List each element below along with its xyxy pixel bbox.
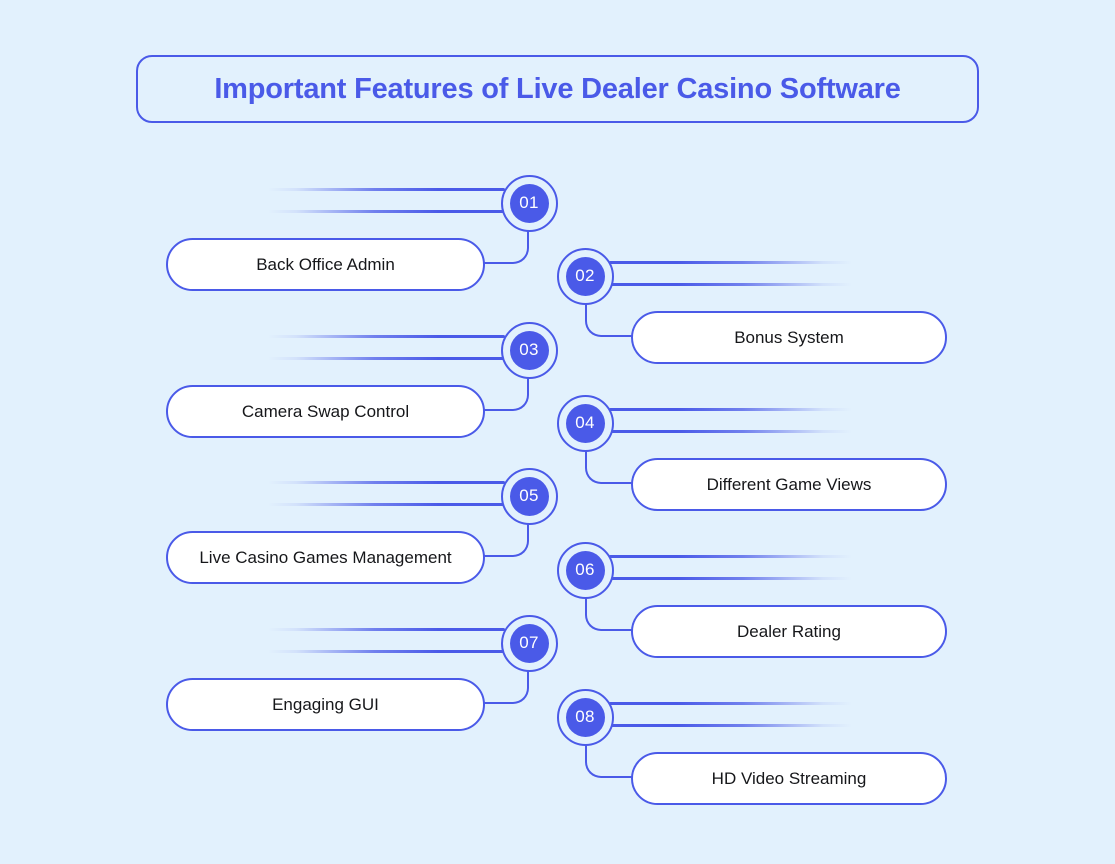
accent-line-lower <box>609 430 852 433</box>
accent-line-lower <box>609 724 852 727</box>
accent-line-lower <box>609 283 852 286</box>
step-number: 08 <box>566 698 605 737</box>
accent-line-upper <box>268 628 505 631</box>
accent-line-upper <box>609 261 852 264</box>
feature-label: Bonus System <box>734 328 844 348</box>
step-number: 07 <box>510 624 549 663</box>
connector-lines <box>268 628 505 658</box>
elbow-connector <box>585 741 635 778</box>
step-badge-08[interactable]: 08 <box>557 689 614 746</box>
step-badge-01[interactable]: 01 <box>501 175 558 232</box>
feature-pill-03[interactable]: Camera Swap Control <box>166 385 485 438</box>
step-badge-05[interactable]: 05 <box>501 468 558 525</box>
accent-line-lower <box>609 577 852 580</box>
accent-line-lower <box>268 503 505 506</box>
connector-lines <box>609 408 852 438</box>
feature-pill-05[interactable]: Live Casino Games Management <box>166 531 485 584</box>
feature-label: Engaging GUI <box>272 695 379 715</box>
accent-line-upper <box>609 702 852 705</box>
feature-label: Camera Swap Control <box>242 402 409 422</box>
page-title: Important Features of Live Dealer Casino… <box>214 73 900 106</box>
feature-pill-02[interactable]: Bonus System <box>631 311 947 364</box>
accent-line-lower <box>268 650 505 653</box>
infographic-canvas: Important Features of Live Dealer Casino… <box>0 0 1115 864</box>
step-number: 02 <box>566 257 605 296</box>
step-badge-03[interactable]: 03 <box>501 322 558 379</box>
step-number: 03 <box>510 331 549 370</box>
elbow-connector <box>585 594 635 631</box>
feature-label: Dealer Rating <box>737 622 841 642</box>
feature-label: Back Office Admin <box>256 255 395 275</box>
accent-line-lower <box>268 210 505 213</box>
elbow-connector <box>585 447 635 484</box>
feature-label: Live Casino Games Management <box>199 548 451 568</box>
step-number: 04 <box>566 404 605 443</box>
connector-lines <box>268 481 505 511</box>
step-number: 05 <box>510 477 549 516</box>
feature-pill-08[interactable]: HD Video Streaming <box>631 752 947 805</box>
accent-line-lower <box>268 357 505 360</box>
step-number: 01 <box>510 184 549 223</box>
step-badge-02[interactable]: 02 <box>557 248 614 305</box>
page-title-box: Important Features of Live Dealer Casino… <box>136 55 979 123</box>
accent-line-upper <box>268 188 505 191</box>
elbow-connector <box>585 300 635 337</box>
connector-lines <box>609 702 852 732</box>
elbow-connector <box>481 374 529 411</box>
step-badge-04[interactable]: 04 <box>557 395 614 452</box>
elbow-connector <box>481 667 529 704</box>
connector-lines <box>268 335 505 365</box>
step-number: 06 <box>566 551 605 590</box>
accent-line-upper <box>268 481 505 484</box>
accent-line-upper <box>268 335 505 338</box>
feature-pill-01[interactable]: Back Office Admin <box>166 238 485 291</box>
feature-label: Different Game Views <box>707 475 872 495</box>
connector-lines <box>609 261 852 291</box>
elbow-connector <box>481 227 529 264</box>
connector-lines <box>609 555 852 585</box>
feature-pill-04[interactable]: Different Game Views <box>631 458 947 511</box>
accent-line-upper <box>609 555 852 558</box>
feature-pill-07[interactable]: Engaging GUI <box>166 678 485 731</box>
feature-label: HD Video Streaming <box>712 769 867 789</box>
connector-lines <box>268 188 505 218</box>
elbow-connector <box>481 520 529 557</box>
step-badge-06[interactable]: 06 <box>557 542 614 599</box>
accent-line-upper <box>609 408 852 411</box>
feature-pill-06[interactable]: Dealer Rating <box>631 605 947 658</box>
step-badge-07[interactable]: 07 <box>501 615 558 672</box>
